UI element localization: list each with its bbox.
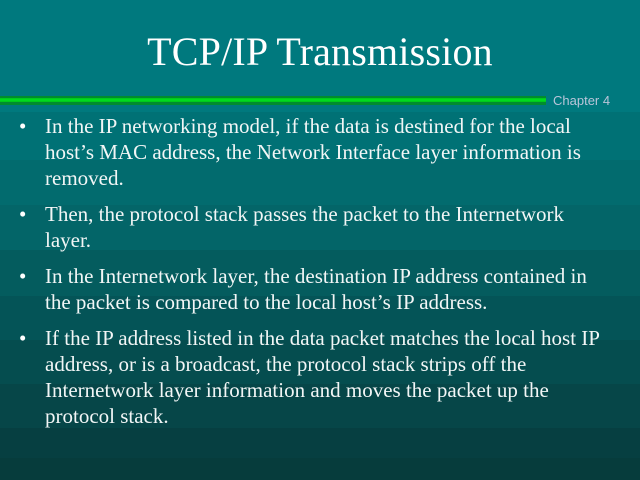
page-title: TCP/IP Transmission [0, 28, 640, 76]
list-item-text: In the Internetwork layer, the destinati… [45, 263, 610, 315]
list-item: • In the Internetwork layer, the destina… [0, 263, 640, 315]
bullet-dot-icon: • [19, 113, 29, 139]
list-item: • If the IP address listed in the data p… [0, 325, 640, 429]
bullet-dot-icon: • [19, 263, 29, 289]
slide-body-content: • In the IP networking model, if the dat… [0, 113, 640, 439]
list-item-text: In the IP networking model, if the data … [45, 113, 610, 191]
title-divider-row: Chapter 4 [0, 93, 640, 111]
chapter-label: Chapter 4 [553, 93, 610, 109]
list-item-text: If the IP address listed in the data pac… [45, 325, 610, 429]
list-item: • Then, the protocol stack passes the pa… [0, 201, 640, 253]
bullet-dot-icon: • [19, 201, 29, 227]
slide-title-block: TCP/IP Transmission [0, 28, 640, 76]
list-item-text: Then, the protocol stack passes the pack… [45, 201, 610, 253]
list-item: • In the IP networking model, if the dat… [0, 113, 640, 191]
bullet-dot-icon: • [19, 325, 29, 351]
green-divider-bar [0, 96, 546, 105]
presentation-slide: TCP/IP Transmission Chapter 4 • In the I… [0, 0, 640, 480]
